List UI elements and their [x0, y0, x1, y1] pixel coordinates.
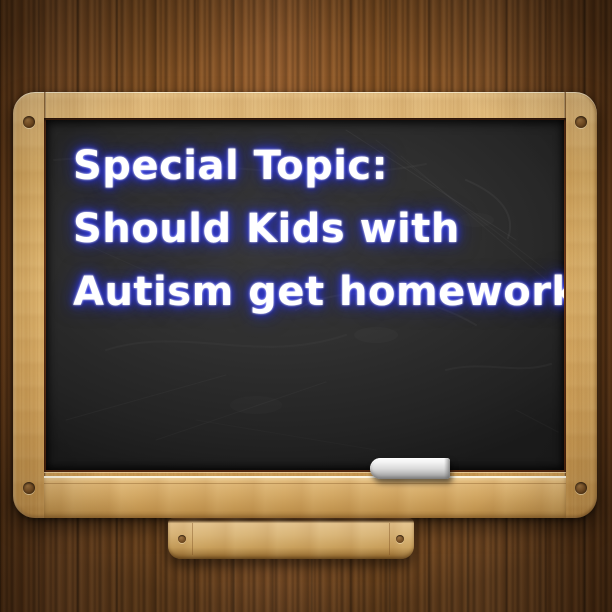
chalk-smudge-texture — [46, 120, 564, 470]
tray-screw-left-icon — [178, 535, 186, 543]
tray-screw-right-icon — [396, 535, 404, 543]
chalkboard-slate[interactable]: Special Topic: Should Kids with Autism g… — [46, 120, 564, 470]
screw-bottom-right-icon — [575, 482, 587, 494]
screw-top-right-icon — [575, 116, 587, 128]
tray-seam-left — [192, 523, 193, 555]
chalk-ledge[interactable] — [44, 476, 566, 518]
chalkboard-frame[interactable]: Special Topic: Should Kids with Autism g… — [13, 92, 597, 518]
tray-seam-right — [389, 523, 390, 555]
under-board-tray[interactable] — [168, 518, 414, 559]
chalk-line-3: Autism get homework? — [73, 272, 553, 312]
screw-top-left-icon — [23, 116, 35, 128]
screw-bottom-left-icon — [23, 482, 35, 494]
chalk-stick[interactable] — [370, 458, 450, 479]
chalk-line-1: Special Topic: — [73, 146, 553, 186]
ledge-edge-highlight — [44, 483, 566, 484]
chalkboard-scene: Special Topic: Should Kids with Autism g… — [0, 0, 612, 612]
chalkboard-message: Special Topic: Should Kids with Autism g… — [73, 146, 553, 312]
chalk-line-2: Should Kids with — [73, 209, 553, 249]
